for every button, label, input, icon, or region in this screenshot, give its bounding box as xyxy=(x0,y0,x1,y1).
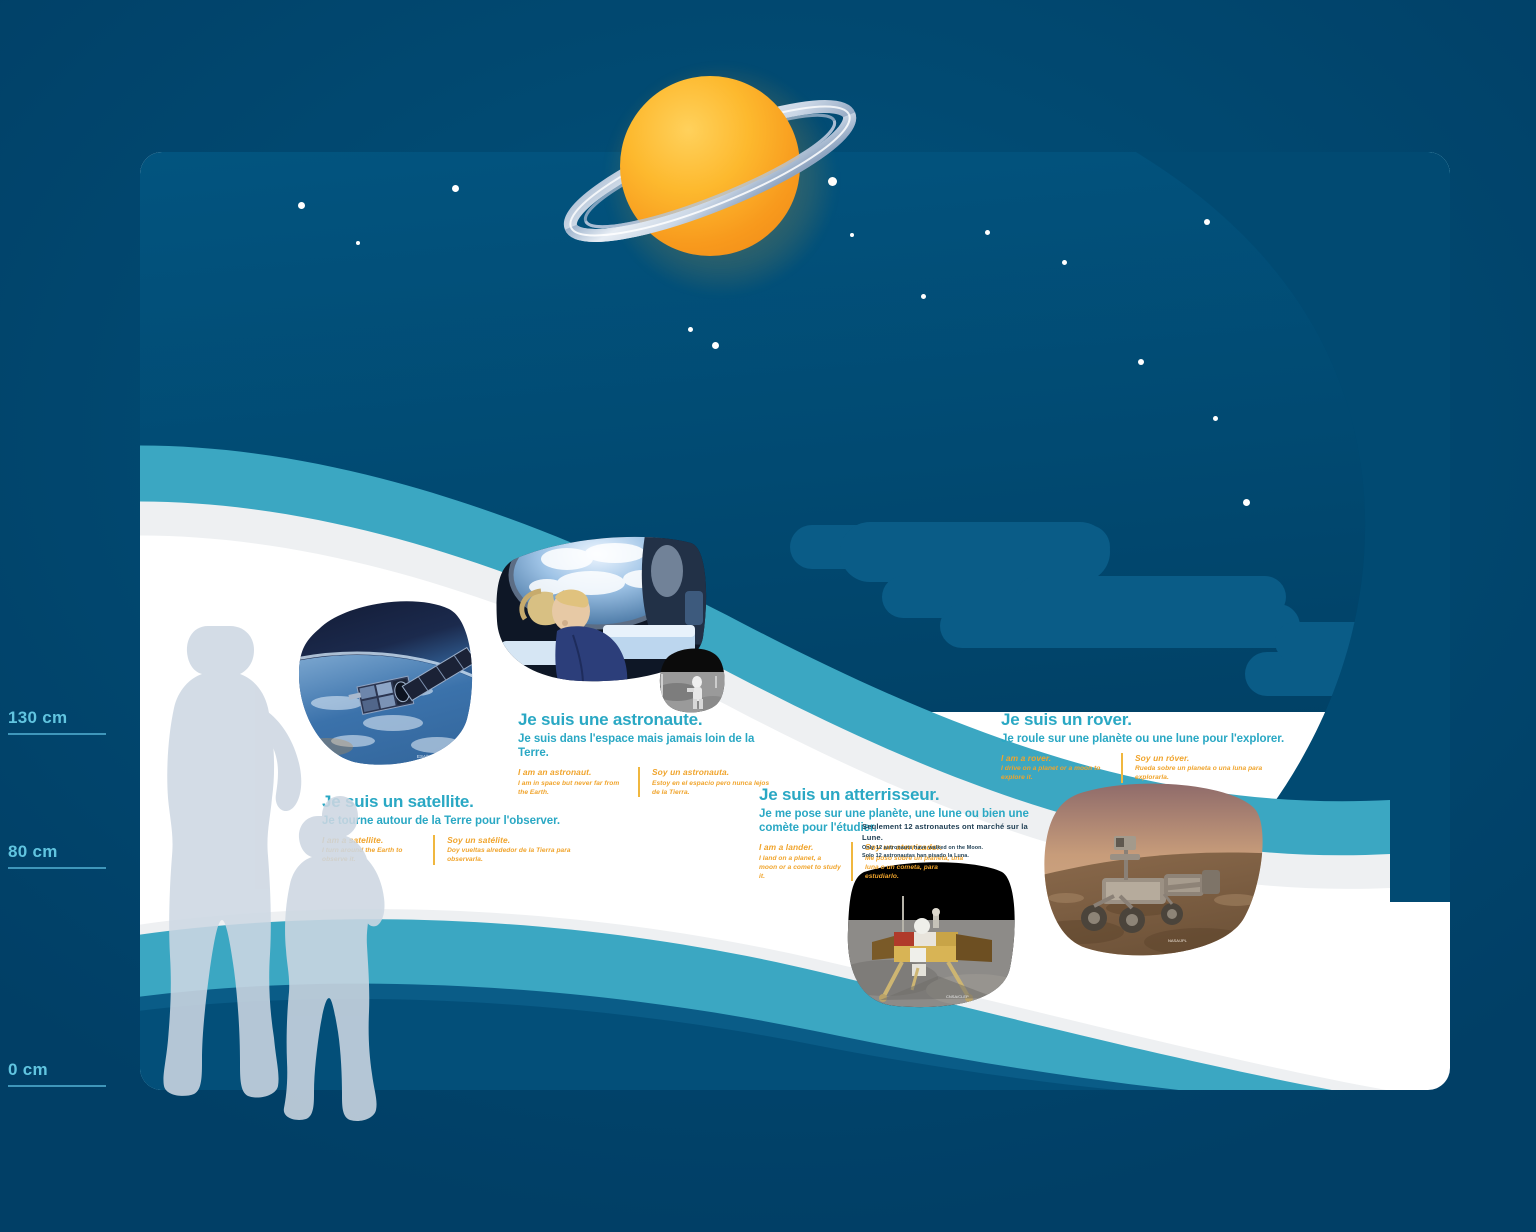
translation-en-title: I am a lander. xyxy=(759,842,841,853)
scale-rule-80 xyxy=(8,867,106,869)
fact-en: Only 12 astronauts have walked on the Mo… xyxy=(862,844,1042,853)
text-block-rover: Je suis un rover. Je roule sur une planè… xyxy=(1001,710,1291,783)
planet-ring-front xyxy=(540,55,880,305)
translation-en-body: I drive on a planet or a moon to explore… xyxy=(1001,764,1111,782)
translation-en-body: I land on a planet, a moon or a comet to… xyxy=(759,854,841,882)
scale-label-130: 130 cm xyxy=(8,708,108,728)
star xyxy=(452,185,459,192)
scale-label-0: 0 cm xyxy=(8,1060,108,1080)
child-figure xyxy=(284,796,385,1121)
photo-moonwalk-circle xyxy=(657,646,727,716)
translation-en-title: I am an astronaut. xyxy=(518,767,628,778)
scale-mark-80: 80 cm xyxy=(8,842,108,869)
translation-es: Soy un róver. Rueda sobre un planeta o u… xyxy=(1121,753,1281,783)
height-scale: 130 cm 80 cm 0 cm xyxy=(0,0,140,1232)
translations-rover: I am a rover. I drive on a planet or a m… xyxy=(1001,753,1291,783)
svg-text:NASA/JPL: NASA/JPL xyxy=(1168,938,1188,943)
star xyxy=(356,241,360,245)
heading-lander: Je suis un atterrisseur. xyxy=(759,785,1039,805)
translation-en: I am a lander. I land on a planet, a moo… xyxy=(759,842,851,881)
translation-en-title: I am a rover. xyxy=(1001,753,1111,764)
svg-text:CNSA/CLEP: CNSA/CLEP xyxy=(946,994,969,999)
fact-moon-walkers: Seulement 12 astronautes ont marché sur … xyxy=(862,821,1042,861)
translation-es-body: Doy vueltas alrededor de la Tierra para … xyxy=(447,846,572,864)
human-scale-silhouettes xyxy=(150,620,410,1120)
scale-label-80: 80 cm xyxy=(8,842,108,862)
translation-es-title: Soy un astronauta. xyxy=(652,767,778,778)
scale-rule-0 xyxy=(8,1085,106,1087)
translation-es-title: Soy un róver. xyxy=(1135,753,1271,764)
text-block-astronaut: Je suis une astronaute. Je suis dans l'e… xyxy=(518,710,788,797)
heading-rover: Je suis un rover. xyxy=(1001,710,1291,730)
adult-figure xyxy=(163,626,301,1098)
translation-es-body: Rueda sobre un planeta o una luna para e… xyxy=(1135,764,1271,782)
poster-stage: 130 cm 80 cm 0 cm xyxy=(0,0,1536,1232)
subtitle-rover: Je roule sur une planète ou une lune pou… xyxy=(1001,732,1291,746)
heading-astronaut: Je suis une astronaute. xyxy=(518,710,788,730)
star xyxy=(298,202,305,209)
translation-es-title: Soy un satélite. xyxy=(447,835,572,846)
fact-es: Solo 12 astronautas han pisado la Luna. xyxy=(862,852,1042,861)
subtitle-astronaut: Je suis dans l'espace mais jamais loin d… xyxy=(518,732,788,761)
scale-mark-130: 130 cm xyxy=(8,708,108,735)
ringed-planet xyxy=(540,55,880,305)
scale-rule-130 xyxy=(8,733,106,735)
fact-fr: Seulement 12 astronautes ont marché sur … xyxy=(862,821,1042,844)
scale-mark-0: 0 cm xyxy=(8,1060,108,1087)
photo-rover: NASA/JPL xyxy=(1040,782,1270,964)
svg-text:ESA/NanoSat: ESA/NanoSat xyxy=(417,754,446,759)
translation-en: I am a rover. I drive on a planet or a m… xyxy=(1001,753,1121,783)
translation-es: Soy un satélite. Doy vueltas alrededor d… xyxy=(433,835,582,865)
